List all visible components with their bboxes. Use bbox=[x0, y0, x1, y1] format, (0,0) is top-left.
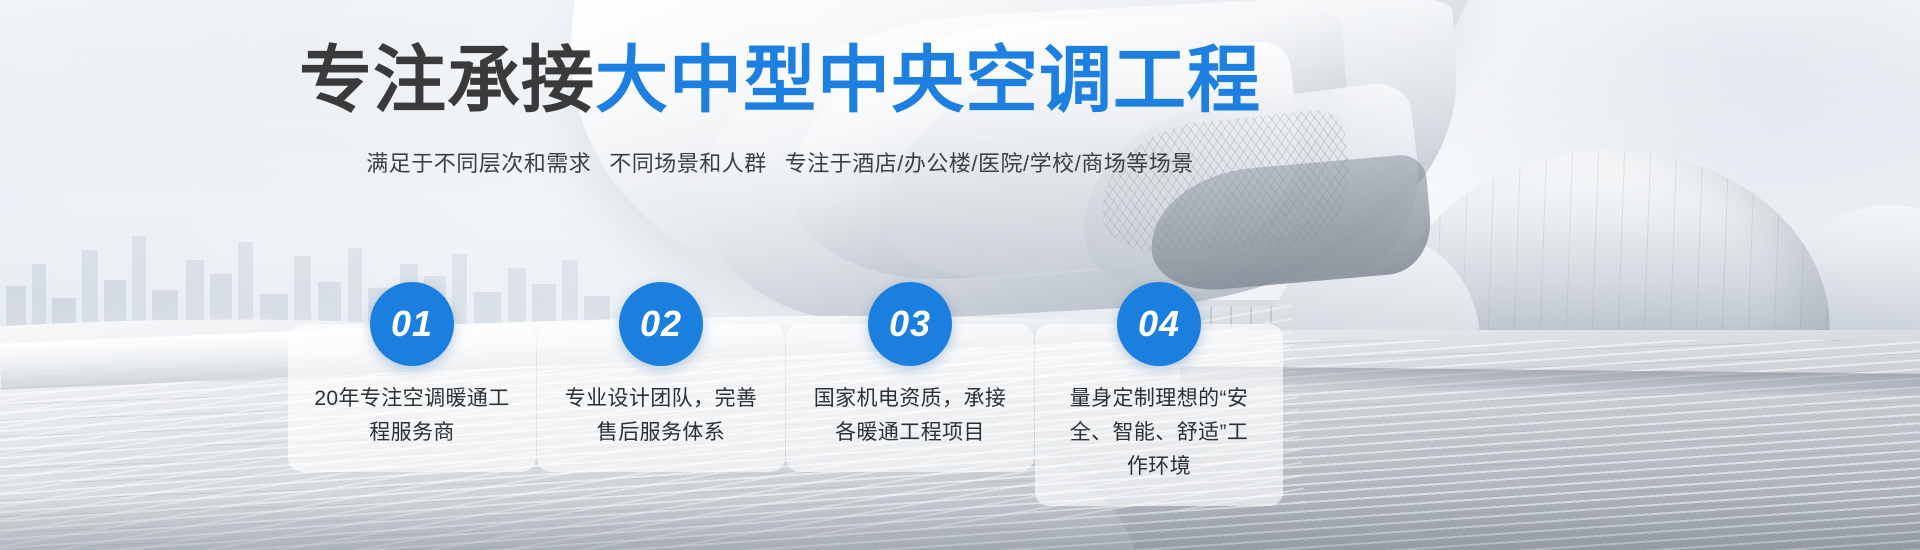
feature-badge-03: 03 bbox=[868, 282, 952, 366]
headline-dark-text: 专注承接 bbox=[299, 40, 595, 121]
feature-badge-01: 01 bbox=[370, 282, 454, 366]
feature-badge-04: 04 bbox=[1117, 282, 1201, 366]
feature-text-03-line2: 各暖通工程项目 bbox=[802, 416, 1018, 450]
subtitle-part-2: 不同场景和人群 bbox=[609, 151, 767, 176]
feature-text-01-line2: 程服务商 bbox=[304, 416, 520, 450]
hero-banner: 专注承接大中型中央空调工程 满足于不同层次和需求不同场景和人群专注于酒店/办公楼… bbox=[0, 0, 1920, 550]
feature-text-04-line2: 全、智能、舒适”工 bbox=[1051, 416, 1267, 450]
feature-number-03: 03 bbox=[868, 282, 952, 366]
headline-blue-text: 大中型中央空调工程 bbox=[595, 40, 1261, 121]
feature-text-04-line3: 作环境 bbox=[1051, 450, 1267, 484]
banner-content: 专注承接大中型中央空调工程 满足于不同层次和需求不同场景和人群专注于酒店/办公楼… bbox=[0, 0, 1920, 550]
feature-number-02: 02 bbox=[619, 282, 703, 366]
feature-number-04: 04 bbox=[1117, 282, 1201, 366]
feature-text-02-line2: 售后服务体系 bbox=[553, 416, 769, 450]
feature-list: 20年专注空调暖通工 程服务商 01 专业设计团队，完善 售后服务体系 02 bbox=[288, 282, 1632, 452]
feature-text-04-line1: 量身定制理想的“安 bbox=[1051, 382, 1267, 416]
page-title: 专注承接大中型中央空调工程 bbox=[0, 40, 1560, 122]
page-subtitle: 满足于不同层次和需求不同场景和人群专注于酒店/办公楼/医院/学校/商场等场景 bbox=[0, 148, 1560, 180]
subtitle-part-1: 满足于不同层次和需求 bbox=[366, 151, 591, 176]
feature-text-01-line1: 20年专注空调暖通工 bbox=[304, 382, 520, 416]
feature-text-02-line1: 专业设计团队，完善 bbox=[553, 382, 769, 416]
subtitle-part-3: 专注于酒店/办公楼/医院/学校/商场等场景 bbox=[785, 151, 1194, 176]
feature-badge-02: 02 bbox=[619, 282, 703, 366]
feature-number-01: 01 bbox=[370, 282, 454, 366]
feature-text-03-line1: 国家机电资质，承接 bbox=[802, 382, 1018, 416]
